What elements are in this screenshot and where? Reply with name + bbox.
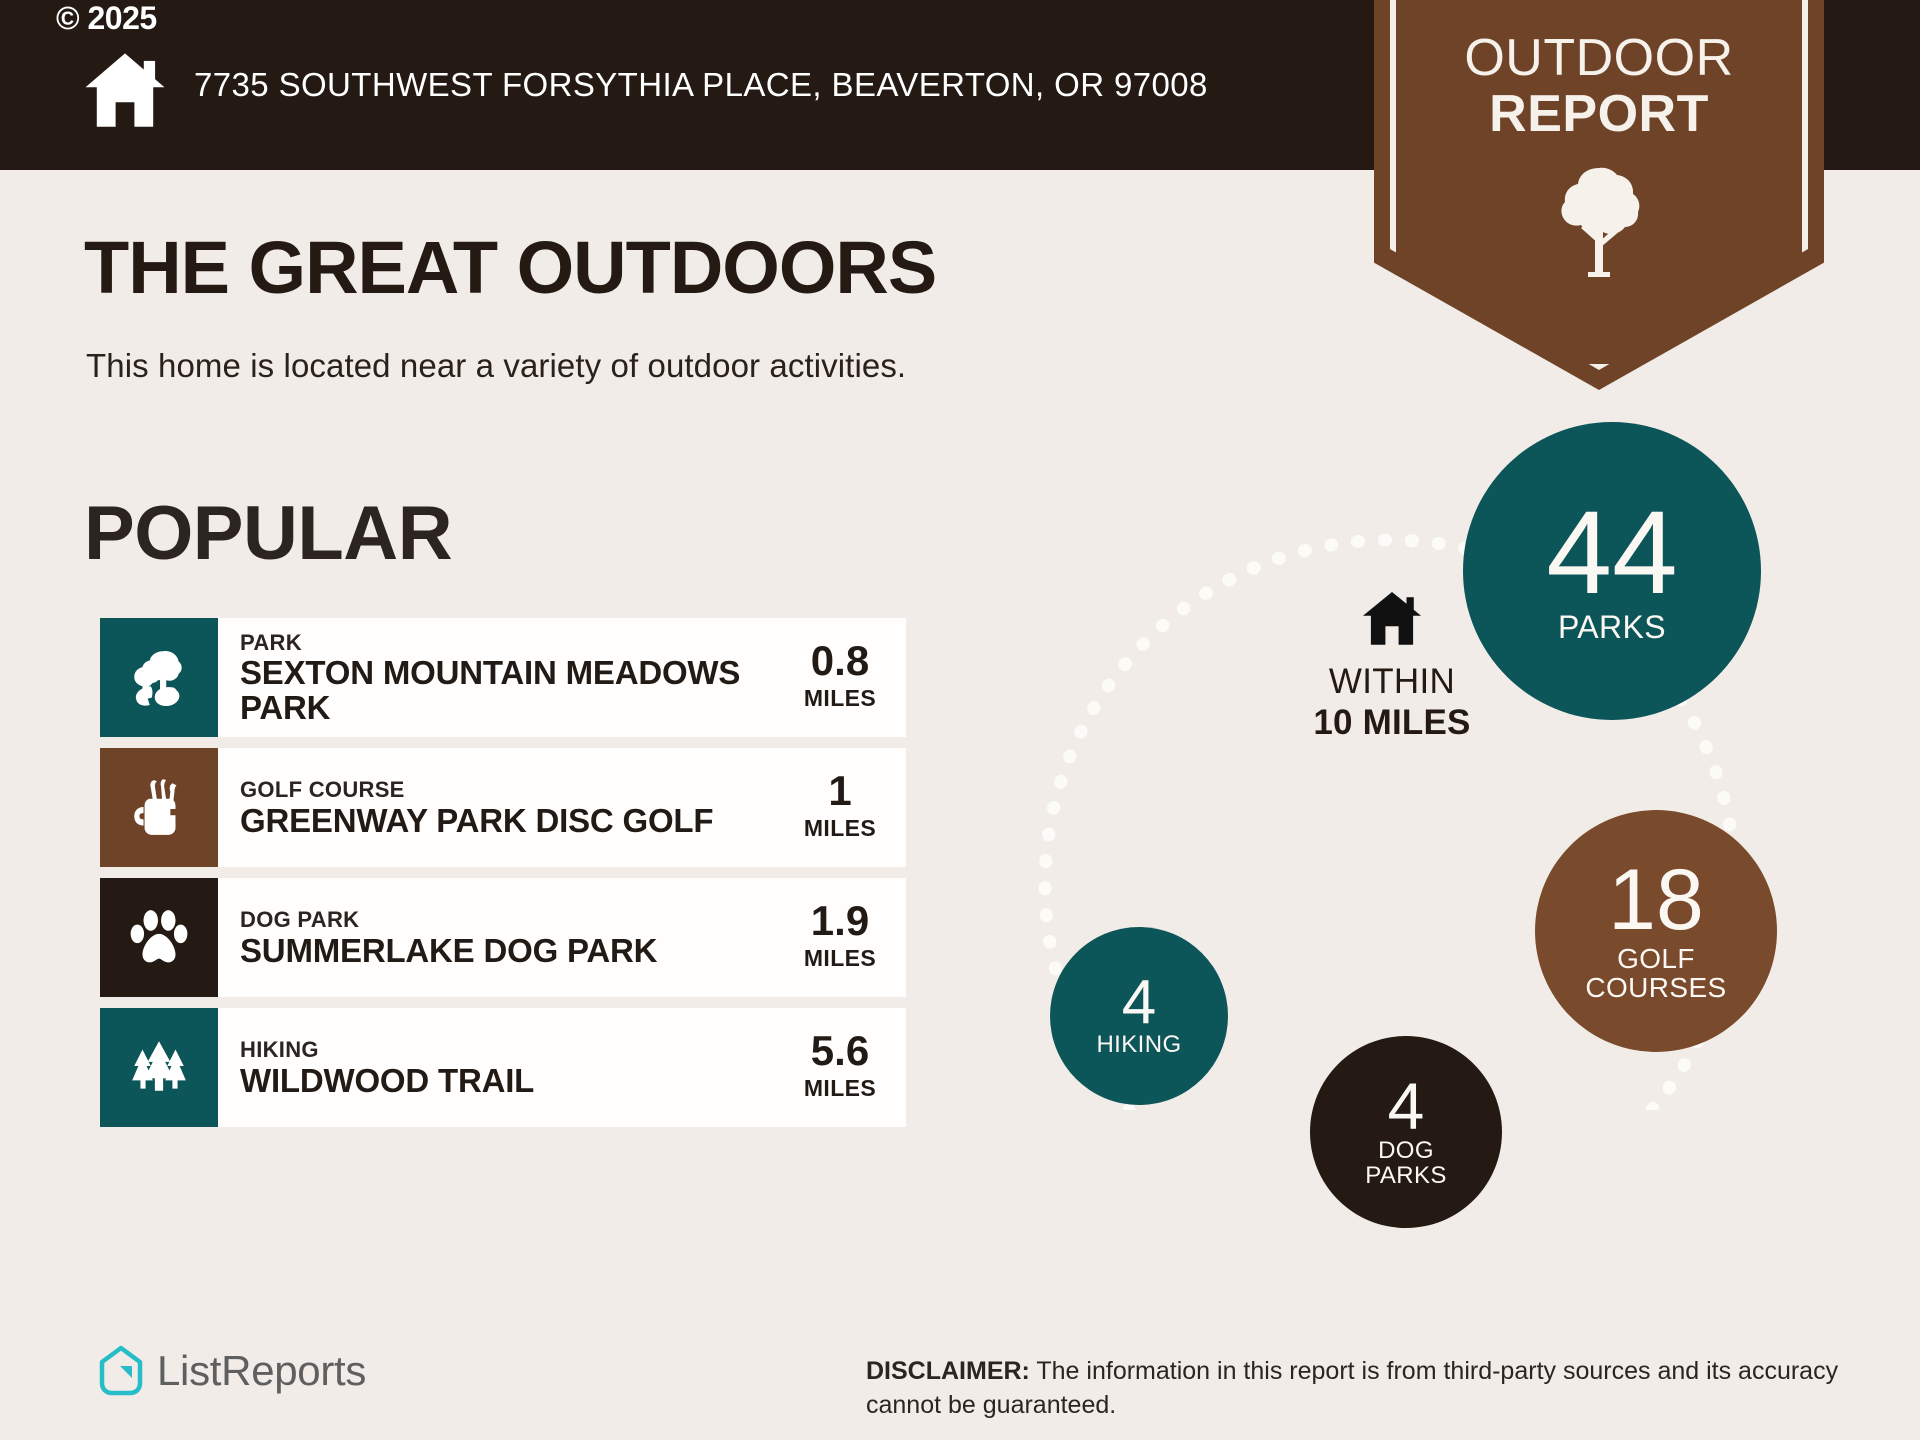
golf-bag-icon <box>126 775 192 841</box>
badge-title-line2: REPORT <box>1489 86 1709 142</box>
list-item[interactable]: GOLF COURSE GREENWAY PARK DISC GOLF 1 MI… <box>100 748 906 867</box>
stat-bubble-hiking[interactable]: 4 HIKING <box>1050 927 1228 1105</box>
stat-label: PARKS <box>1558 611 1666 644</box>
listreports-logo-text: ListReports <box>157 1347 366 1395</box>
list-item-text: HIKING WILDWOOD TRAIL <box>218 1008 788 1127</box>
page-subtitle: This home is located near a variety of o… <box>86 347 906 385</box>
list-item-name: WILDWOOD TRAIL <box>240 1064 782 1099</box>
listreports-logo[interactable]: ListReports <box>98 1345 366 1397</box>
popular-section-title: POPULAR <box>84 496 452 572</box>
park-icon <box>126 645 192 711</box>
outdoor-report-page: © 2025 7735 SOUTHWEST FORSYTHIA PLACE, B… <box>0 0 1920 1440</box>
list-item-distance: 1.9 MILES <box>788 878 906 997</box>
stat-label-line2: PARKS <box>1365 1164 1447 1189</box>
stat-value: 4 <box>1388 1075 1425 1138</box>
stat-label-line1: DOG <box>1378 1139 1434 1164</box>
distance-value: 1.9 <box>811 900 869 942</box>
tree-icon <box>1557 162 1641 280</box>
distance-unit: MILES <box>804 682 876 714</box>
disclaimer-label: DISCLAIMER: <box>866 1357 1030 1385</box>
hiking-icon-box <box>100 1008 218 1127</box>
list-item[interactable]: DOG PARK SUMMERLAKE DOG PARK 1.9 MILES <box>100 878 906 997</box>
stat-bubble-golf-courses[interactable]: 18 GOLF COURSES <box>1535 810 1777 1052</box>
page-title: THE GREAT OUTDOORS <box>84 231 936 305</box>
distance-value: 1 <box>828 770 851 812</box>
amenities-diagram: 44 PARKS 18 GOLF COURSES 4 DOG PARKS 4 H… <box>1000 410 1840 1110</box>
list-item-text: PARK SEXTON MOUNTAIN MEADOWS PARK <box>218 618 788 737</box>
golf-icon-box <box>100 748 218 867</box>
list-item-distance: 0.8 MILES <box>788 618 906 737</box>
listreports-logo-icon <box>98 1345 144 1397</box>
center-label-line2: 10 MILES <box>1313 703 1470 743</box>
center-label-line1: WITHIN <box>1329 661 1455 703</box>
diagram-center: WITHIN 10 MILES <box>1262 588 1522 743</box>
disclaimer: DISCLAIMER: The information in this repo… <box>866 1355 1856 1422</box>
home-icon <box>78 44 172 138</box>
badge-content: OUTDOOR REPORT <box>1374 0 1824 390</box>
stat-label: HIKING <box>1096 1033 1181 1058</box>
stat-label-line2: COURSES <box>1585 973 1726 1002</box>
list-item[interactable]: PARK SEXTON MOUNTAIN MEADOWS PARK 0.8 MI… <box>100 618 906 737</box>
dogpark-icon-box <box>100 878 218 997</box>
list-item-name: SUMMERLAKE DOG PARK <box>240 934 782 969</box>
list-item-distance: 5.6 MILES <box>788 1008 906 1127</box>
stat-value: 4 <box>1122 974 1156 1033</box>
list-item-text: GOLF COURSE GREENWAY PARK DISC GOLF <box>218 748 788 867</box>
list-item-name: SEXTON MOUNTAIN MEADOWS PARK <box>240 656 782 726</box>
distance-unit: MILES <box>804 812 876 844</box>
stat-value: 44 <box>1546 497 1677 609</box>
list-item-category: GOLF COURSE <box>240 776 782 804</box>
list-item-category: DOG PARK <box>240 906 782 934</box>
list-item-category: PARK <box>240 629 782 657</box>
list-item[interactable]: HIKING WILDWOOD TRAIL 5.6 MILES <box>100 1008 906 1127</box>
paw-icon <box>126 905 192 971</box>
distance-value: 5.6 <box>811 1030 869 1072</box>
stat-label-line1: GOLF <box>1617 944 1695 973</box>
distance-unit: MILES <box>804 1072 876 1104</box>
badge-title-line1: OUTDOOR <box>1464 30 1733 86</box>
list-item-name: GREENWAY PARK DISC GOLF <box>240 804 782 839</box>
copyright-label: © 2025 <box>56 2 157 34</box>
distance-unit: MILES <box>804 942 876 974</box>
list-item-text: DOG PARK SUMMERLAKE DOG PARK <box>218 878 788 997</box>
distance-value: 0.8 <box>811 640 869 682</box>
popular-list: PARK SEXTON MOUNTAIN MEADOWS PARK 0.8 MI… <box>100 618 906 1138</box>
list-item-distance: 1 MILES <box>788 748 906 867</box>
list-item-category: HIKING <box>240 1036 782 1064</box>
property-address: 7735 SOUTHWEST FORSYTHIA PLACE, BEAVERTO… <box>194 63 1208 108</box>
stat-value: 18 <box>1608 860 1704 942</box>
trees-icon <box>126 1035 192 1101</box>
park-icon-box <box>100 618 218 737</box>
stat-bubble-dog-parks[interactable]: 4 DOG PARKS <box>1310 1036 1502 1228</box>
outdoor-report-badge: OUTDOOR REPORT <box>1374 0 1824 390</box>
home-icon <box>1359 588 1425 650</box>
